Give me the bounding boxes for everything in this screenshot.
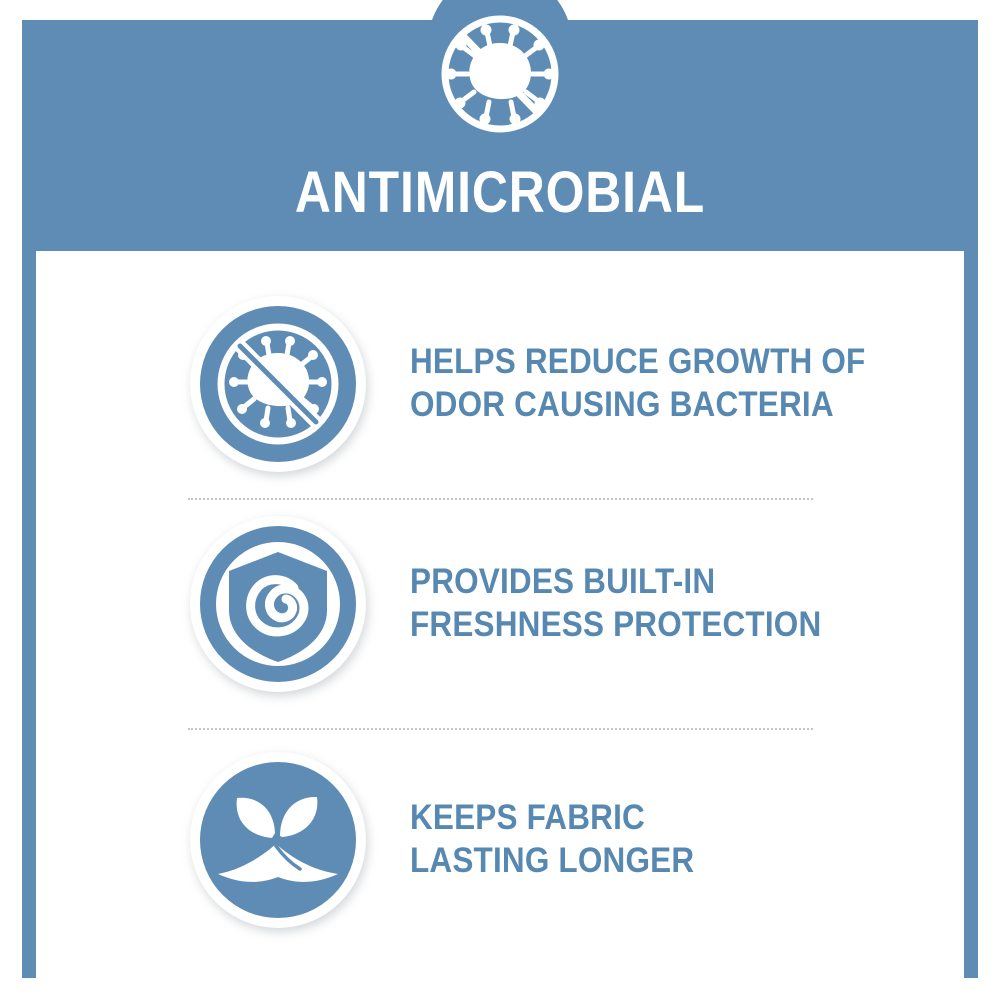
badge-wrapper-3: [188, 750, 368, 930]
header-icon-wrapper: [420, 12, 580, 140]
feature-row-freshness: PROVIDES BUILT-IN FRESHNESS PROTECTION: [36, 509, 964, 699]
badge-wrapper-2: [188, 514, 368, 694]
feature-label-1: HELPS REDUCE GROWTH OF ODOR CAUSING BACT…: [410, 341, 865, 426]
antimicrobial-infographic: ANTIMICROBIAL: [0, 0, 1000, 1000]
no-virus-badge-icon: [188, 294, 368, 474]
feature-row-bacteria: HELPS REDUCE GROWTH OF ODOR CAUSING BACT…: [36, 289, 964, 479]
feature-row-fabric: KEEPS FABRIC LASTING LONGER: [36, 745, 964, 935]
page-title: ANTIMICROBIAL: [70, 164, 930, 222]
badge-wrapper-1: [188, 294, 368, 474]
no-virus-icon: [420, 12, 580, 140]
feature-divider-1: [188, 498, 813, 500]
feature-label-2: PROVIDES BUILT-IN FRESHNESS PROTECTION: [410, 561, 821, 646]
leaf-sprout-badge-icon: [188, 750, 368, 930]
features-panel: HELPS REDUCE GROWTH OF ODOR CAUSING BACT…: [36, 251, 964, 978]
shield-swirl-badge-icon: [188, 514, 368, 694]
feature-label-3: KEEPS FABRIC LASTING LONGER: [410, 797, 694, 882]
feature-divider-2: [188, 728, 813, 730]
